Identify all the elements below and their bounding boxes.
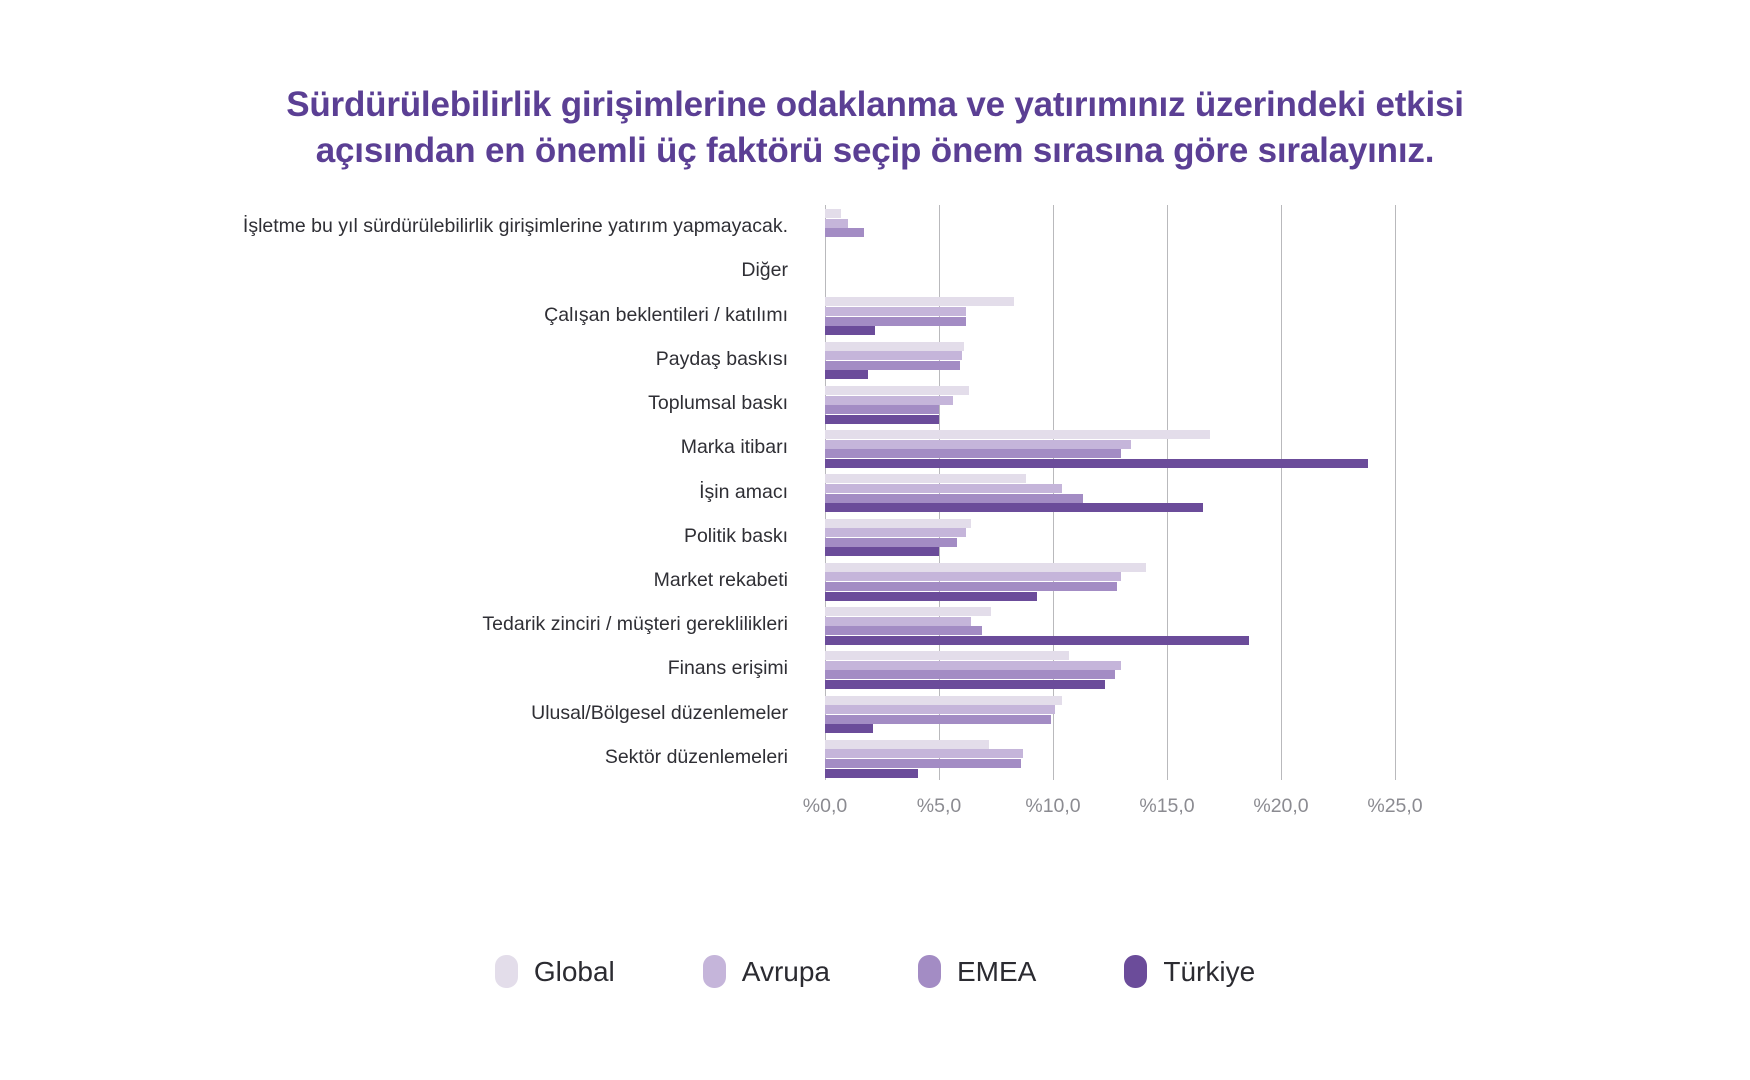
y-axis-label: İşin amacı: [699, 483, 788, 503]
bar-avrupa: [825, 219, 848, 228]
bar-türkiye: [825, 370, 868, 379]
bar-group: [825, 647, 1395, 691]
bar-group: [825, 470, 1395, 514]
x-axis-tick-label: %20,0: [1253, 795, 1308, 818]
bar-global: [825, 474, 1026, 483]
bar-türkiye: [825, 326, 875, 335]
bar-global: [825, 519, 971, 528]
x-axis-tick-label: %10,0: [1025, 795, 1080, 818]
bar-group: [825, 338, 1395, 382]
bar-emea: [825, 670, 1115, 679]
bar-avrupa: [825, 307, 966, 316]
legend-swatch-icon: [1124, 955, 1147, 988]
bar-türkiye: [825, 724, 873, 733]
title-line-2: açısından en önemli üç faktörü seçip öne…: [170, 128, 1580, 174]
bar-avrupa: [825, 705, 1055, 714]
y-axis-label: Marka itibarı: [681, 438, 788, 458]
bar-avrupa: [825, 351, 962, 360]
bar-türkiye: [825, 636, 1249, 645]
legend-item-avrupa[interactable]: Avrupa: [703, 955, 830, 988]
y-axis-label: Çalışan beklentileri / katılımı: [544, 306, 788, 326]
x-axis-tick-label: %0,0: [803, 795, 847, 818]
bar-avrupa: [825, 572, 1121, 581]
bar-avrupa: [825, 749, 1023, 758]
bar-global: [825, 209, 841, 218]
bar-emea: [825, 361, 960, 370]
bar-global: [825, 696, 1062, 705]
y-axis-label: Tedarik zinciri / müşteri gereklilikleri: [482, 615, 788, 635]
y-axis-label: Diğer: [741, 261, 788, 281]
x-axis-labels: %0,0%5,0%10,0%15,0%20,0%25,0: [825, 795, 1445, 835]
y-axis-label: Toplumsal baskı: [648, 394, 788, 414]
bar-türkiye: [825, 459, 1368, 468]
bar-emea: [825, 538, 957, 547]
bar-emea: [825, 626, 982, 635]
title-line-1: Sürdürülebilirlik girişimlerine odaklanm…: [170, 82, 1580, 128]
y-axis-label: Paydaş baskısı: [656, 350, 788, 370]
bar-avrupa: [825, 528, 966, 537]
bar-türkiye: [825, 680, 1105, 689]
bar-global: [825, 386, 969, 395]
bar-emea: [825, 228, 864, 237]
bar-group: [825, 426, 1395, 470]
bar-global: [825, 740, 989, 749]
chart-legend: GlobalAvrupaEMEATürkiye: [0, 955, 1750, 988]
bar-group: [825, 692, 1395, 736]
chart-page: Sürdürülebilirlik girişimlerine odaklanm…: [0, 0, 1750, 1080]
x-axis-tick-label: %5,0: [917, 795, 961, 818]
bar-group: [825, 736, 1395, 780]
legend-item-emea[interactable]: EMEA: [918, 955, 1036, 988]
bar-avrupa: [825, 617, 971, 626]
bar-avrupa: [825, 484, 1062, 493]
bar-global: [825, 607, 991, 616]
bar-group: [825, 515, 1395, 559]
bar-avrupa: [825, 440, 1131, 449]
bar-emea: [825, 317, 966, 326]
legend-label: EMEA: [957, 956, 1036, 988]
legend-swatch-icon: [495, 955, 518, 988]
bar-global: [825, 430, 1210, 439]
x-axis-tick-label: %25,0: [1367, 795, 1422, 818]
bar-group: [825, 559, 1395, 603]
legend-swatch-icon: [703, 955, 726, 988]
legend-label: Global: [534, 956, 615, 988]
bar-türkiye: [825, 503, 1203, 512]
legend-label: Türkiye: [1163, 956, 1255, 988]
page-title: Sürdürülebilirlik girişimlerine odaklanm…: [170, 82, 1580, 174]
bar-avrupa: [825, 396, 953, 405]
bar-global: [825, 342, 964, 351]
legend-item-türkiye[interactable]: Türkiye: [1124, 955, 1255, 988]
y-axis-label: İşletme bu yıl sürdürülebilirlik girişim…: [243, 217, 788, 237]
bar-emea: [825, 715, 1051, 724]
legend-label: Avrupa: [742, 956, 830, 988]
y-axis-label: Politik baskı: [684, 527, 788, 547]
bar-emea: [825, 405, 939, 414]
bar-global: [825, 297, 1014, 306]
bar-group: [825, 382, 1395, 426]
y-axis-label: Finans erişimi: [668, 659, 788, 679]
plot-area: [825, 205, 1395, 780]
y-axis-label: Market rekabeti: [654, 571, 788, 591]
bar-group: [825, 603, 1395, 647]
bar-emea: [825, 449, 1121, 458]
bar-türkiye: [825, 769, 918, 778]
x-axis-tick-label: %15,0: [1139, 795, 1194, 818]
bar-türkiye: [825, 592, 1037, 601]
y-axis-labels: İşletme bu yıl sürdürülebilirlik girişim…: [0, 205, 810, 780]
bar-emea: [825, 582, 1117, 591]
bar-emea: [825, 494, 1083, 503]
bar-group: [825, 293, 1395, 337]
legend-item-global[interactable]: Global: [495, 955, 615, 988]
bar-emea: [825, 759, 1021, 768]
bar-global: [825, 651, 1069, 660]
bar-türkiye: [825, 415, 939, 424]
y-axis-label: Sektör düzenlemeleri: [605, 748, 788, 768]
gridline-25: [1395, 205, 1396, 780]
y-axis-label: Ulusal/Bölgesel düzenlemeler: [531, 704, 788, 724]
bar-türkiye: [825, 547, 939, 556]
bar-group: [825, 205, 1395, 249]
bar-global: [825, 563, 1146, 572]
bar-avrupa: [825, 661, 1121, 670]
legend-swatch-icon: [918, 955, 941, 988]
bar-group: [825, 249, 1395, 293]
